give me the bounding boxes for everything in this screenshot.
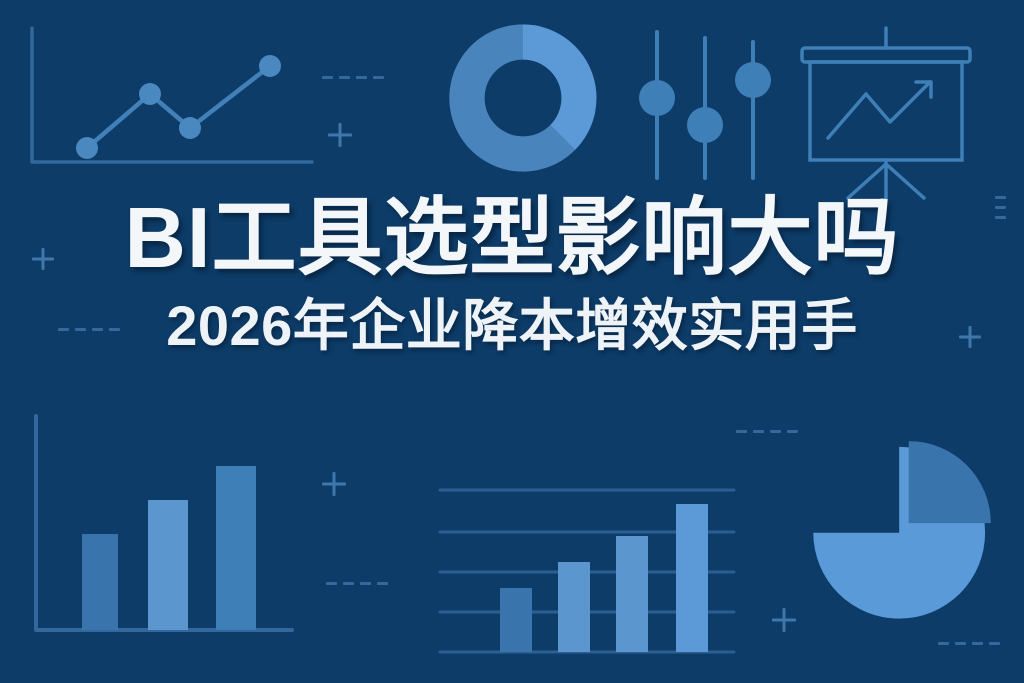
- page-subtitle: 2026年企业降本增效实用手: [0, 297, 1024, 356]
- dash-bottom-right-icon: [938, 642, 1000, 645]
- presentation-board-top-right: [790, 18, 990, 203]
- bar-item: [82, 534, 118, 630]
- dash-top-center-icon: [322, 76, 384, 79]
- line-chart-top-left: [22, 22, 322, 182]
- poster-canvas: BI工具选型影响大吗 2026年企业降本增效实用手: [0, 0, 1024, 683]
- bar-item: [148, 500, 188, 630]
- bar-item: [558, 562, 590, 652]
- dash-bottom-left-icon: [326, 582, 388, 585]
- bar-item: [216, 466, 256, 630]
- title-block: BI工具选型影响大吗 2026年企业降本增效实用手: [0, 196, 1024, 355]
- dash-bottom-center-icon: [736, 430, 798, 433]
- bar-item: [500, 588, 532, 652]
- plus-top-center-icon: [328, 123, 352, 147]
- bar-chart-bottom-center: [432, 460, 742, 683]
- bar-item: [676, 504, 708, 652]
- donut-chart-top-center: [443, 18, 603, 178]
- page-title: BI工具选型影响大吗: [0, 196, 1024, 283]
- bar-chart-bottom-left: [20, 408, 300, 658]
- plus-bottom-left-icon: [322, 472, 346, 496]
- slider-control-top-right: [630, 28, 780, 183]
- pie-chart-bottom-right: [798, 422, 1008, 632]
- plus-bottom-right-icon: [772, 608, 796, 632]
- bar-item: [616, 536, 648, 652]
